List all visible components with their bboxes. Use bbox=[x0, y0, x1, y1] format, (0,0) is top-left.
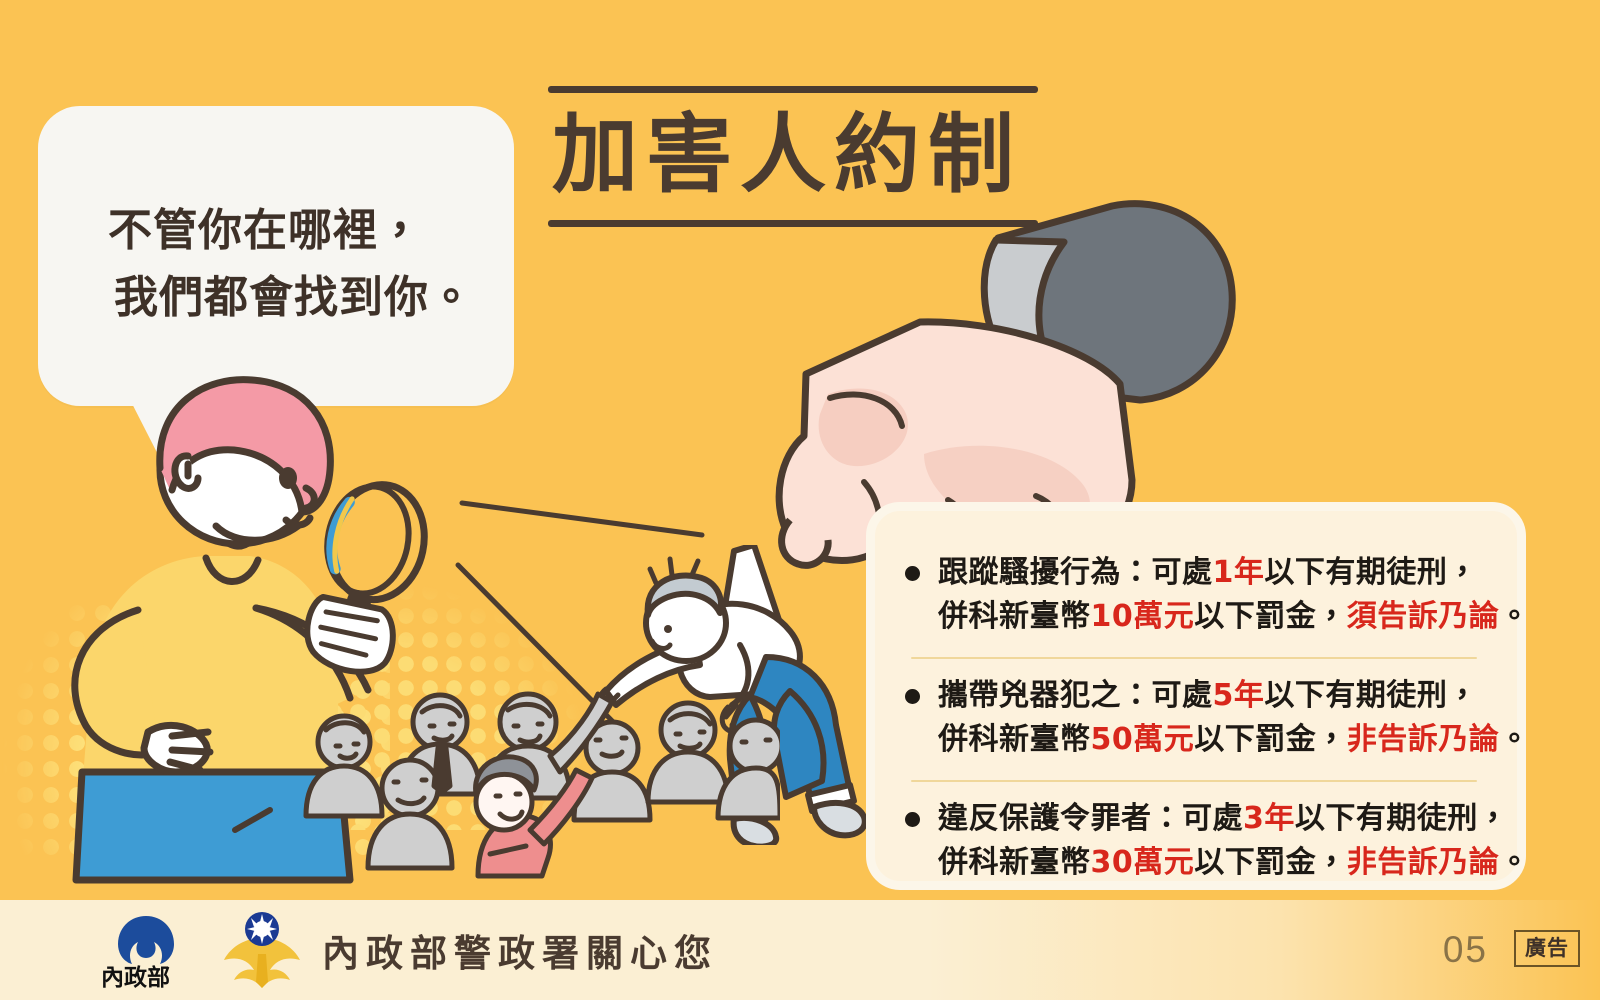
bullet-text: 跟蹤騷擾行為：可處1年以下有期徒刑， 併科新臺幣10萬元以下罰金，須告訴乃論。 bbox=[938, 551, 1530, 640]
list-item: 違反保護令罪者：可處3年以下有期徒刑， 併科新臺幣30萬元以下罰金，非告訴乃論。 bbox=[897, 797, 1491, 888]
list-divider bbox=[911, 780, 1477, 782]
police-badge-icon bbox=[222, 912, 302, 990]
page-number: 05 bbox=[1443, 900, 1488, 1000]
bullet-text: 違反保護令罪者：可處3年以下有期徒刑， 併科新臺幣30萬元以下罰金，非告訴乃論。 bbox=[938, 797, 1530, 886]
list-item: 攜帶兇器犯之：可處5年以下有期徒刑， 併科新臺幣50萬元以下罰金，非告訴乃論。 bbox=[897, 674, 1491, 765]
bullet-line-2: 併科新臺幣10萬元以下罰金，須告訴乃論。 bbox=[938, 595, 1530, 639]
penalty-list: 跟蹤騷擾行為：可處1年以下有期徒刑， 併科新臺幣10萬元以下罰金，須告訴乃論。 … bbox=[875, 511, 1517, 887]
crowd-illustration bbox=[300, 690, 780, 880]
bullet-dot-icon bbox=[905, 812, 920, 827]
penalty-info-card: 跟蹤騷擾行為：可處1年以下有期徒刑， 併科新臺幣10萬元以下罰金，須告訴乃論。 … bbox=[866, 502, 1526, 890]
bullet-line-1: 跟蹤騷擾行為：可處1年以下有期徒刑， bbox=[938, 551, 1530, 595]
speech-bubble-text: 不管你在哪裡， 我們都會找到你。 bbox=[108, 198, 508, 332]
agency-slogan: 內政部警政署關心您 bbox=[322, 900, 718, 1000]
list-item: 跟蹤騷擾行為：可處1年以下有期徒刑， 併科新臺幣10萬元以下罰金，須告訴乃論。 bbox=[897, 551, 1491, 642]
bullet-line-2: 併科新臺幣30萬元以下罰金，非告訴乃論。 bbox=[938, 841, 1530, 885]
bullet-dot-icon bbox=[905, 689, 920, 704]
moi-logo-label: 內政部 bbox=[101, 964, 170, 988]
bullet-line-1: 違反保護令罪者：可處3年以下有期徒刑， bbox=[938, 797, 1530, 841]
speech-line-1: 不管你在哪裡， bbox=[108, 205, 423, 256]
poster-canvas: 加害人約制 不管你在哪裡， 我們都會找到你。 bbox=[0, 0, 1600, 1000]
bullet-dot-icon bbox=[905, 566, 920, 581]
ad-badge: 廣告 bbox=[1514, 930, 1580, 967]
title-rule-top bbox=[548, 86, 1038, 93]
bullet-line-2: 併科新臺幣50萬元以下罰金，非告訴乃論。 bbox=[938, 718, 1530, 762]
bullet-text: 攜帶兇器犯之：可處5年以下有期徒刑， 併科新臺幣50萬元以下罰金，非告訴乃論。 bbox=[938, 674, 1530, 763]
moi-logo-icon: 內政部 bbox=[100, 914, 192, 988]
footer-bar: 內政部 內政部警政署關心您 05 bbox=[0, 900, 1600, 1000]
page-title: 加害人約制 bbox=[548, 93, 1038, 216]
bullet-line-1: 攜帶兇器犯之：可處5年以下有期徒刑， bbox=[938, 674, 1530, 718]
list-divider bbox=[911, 657, 1477, 659]
speech-line-2: 我們都會找到你。 bbox=[108, 265, 508, 332]
